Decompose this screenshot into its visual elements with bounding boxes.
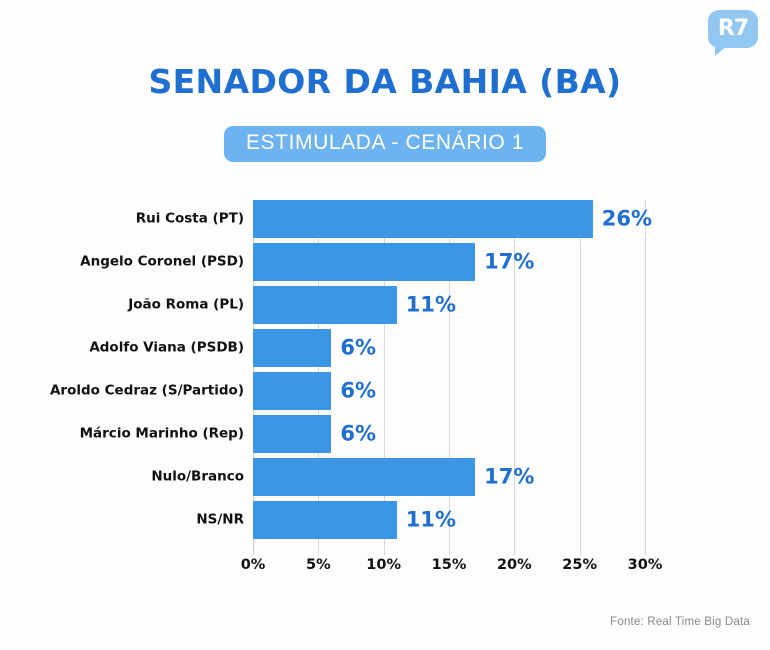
bar-row: Aroldo Cedraz (S/Partido)6% <box>253 372 645 410</box>
category-label: João Roma (PL) <box>128 297 244 313</box>
category-label: Aroldo Cedraz (S/Partido) <box>50 383 244 399</box>
bar-value-label: 6% <box>340 422 376 446</box>
category-label: Márcio Marinho (Rep) <box>80 426 244 442</box>
x-tick-label: 0% <box>241 557 266 573</box>
x-tick-label: 30% <box>628 557 663 573</box>
bar[interactable] <box>253 243 475 281</box>
bar-chart: Rui Costa (PT)26%Angelo Coronel (PSD)17%… <box>0 195 770 585</box>
bar[interactable] <box>253 286 397 324</box>
bar-row: Angelo Coronel (PSD)17% <box>253 243 645 281</box>
category-label: Nulo/Branco <box>151 469 244 485</box>
bar-row: NS/NR11% <box>253 501 645 539</box>
subtitle-container: ESTIMULADA - CENÁRIO 1 <box>0 126 770 162</box>
bar-value-label: 6% <box>340 379 376 403</box>
bar-row: Márcio Marinho (Rep)6% <box>253 415 645 453</box>
plot-area: Rui Costa (PT)26%Angelo Coronel (PSD)17%… <box>253 200 645 555</box>
bar[interactable] <box>253 329 331 367</box>
bar-value-label: 11% <box>406 293 456 317</box>
x-tick-label: 5% <box>306 557 331 573</box>
bar[interactable] <box>253 415 331 453</box>
category-label: NS/NR <box>196 512 244 528</box>
bar-value-label: 26% <box>602 207 652 231</box>
x-tick-label: 20% <box>497 557 532 573</box>
r7-logo-bubble: R7 <box>708 10 758 48</box>
r7-logo-text: R7 <box>718 18 748 40</box>
scenario-badge: ESTIMULADA - CENÁRIO 1 <box>224 126 546 162</box>
bar[interactable] <box>253 501 397 539</box>
bar-row: Nulo/Branco17% <box>253 458 645 496</box>
bar-value-label: 6% <box>340 336 376 360</box>
bar-value-label: 11% <box>406 508 456 532</box>
bar-row: João Roma (PL)11% <box>253 286 645 324</box>
bar[interactable] <box>253 200 593 238</box>
category-label: Angelo Coronel (PSD) <box>80 254 244 270</box>
r7-logo: R7 <box>708 10 758 54</box>
bar-row: Adolfo Viana (PSDB)6% <box>253 329 645 367</box>
x-axis: 0%5%10%15%20%25%30% <box>253 557 645 581</box>
gridline-30 <box>645 200 646 555</box>
bar[interactable] <box>253 372 331 410</box>
category-label: Adolfo Viana (PSDB) <box>89 340 244 356</box>
bar-value-label: 17% <box>484 465 534 489</box>
x-tick-label: 25% <box>562 557 597 573</box>
category-label: Rui Costa (PT) <box>136 211 244 227</box>
x-tick-label: 10% <box>366 557 401 573</box>
page-title: SENADOR DA BAHIA (BA) <box>0 62 770 101</box>
bar-value-label: 17% <box>484 250 534 274</box>
x-tick-label: 15% <box>432 557 467 573</box>
bar-row: Rui Costa (PT)26% <box>253 200 645 238</box>
bar[interactable] <box>253 458 475 496</box>
source-note: Fonte: Real Time Big Data <box>610 616 750 628</box>
